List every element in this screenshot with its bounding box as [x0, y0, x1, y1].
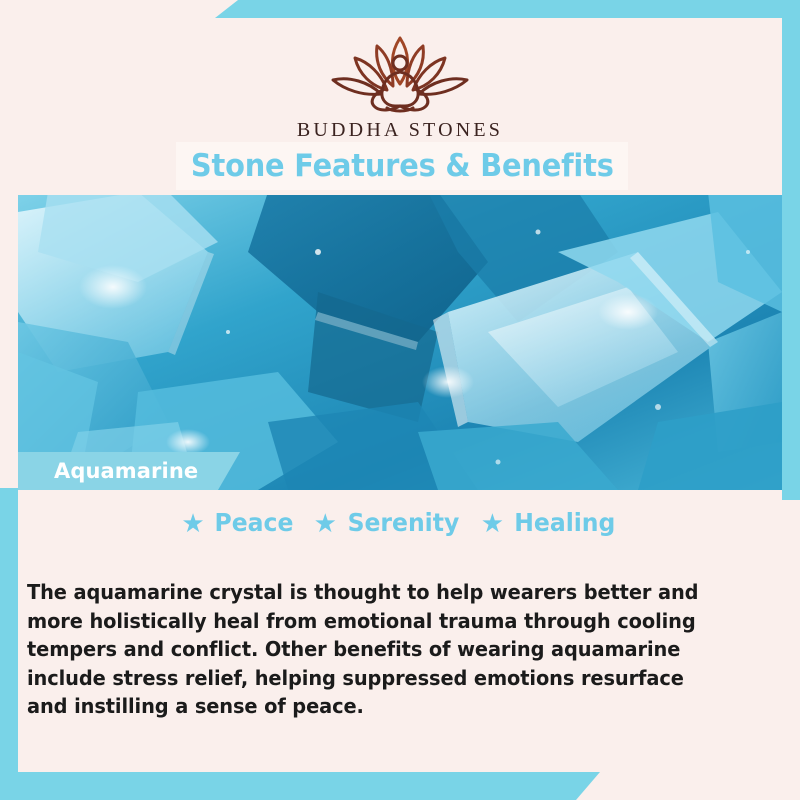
keyword-label: Peace	[214, 508, 293, 537]
keyword-item: ★ Serenity	[314, 508, 463, 537]
keyword-list: ★ Peace ★ Serenity ★ Healing	[18, 508, 782, 537]
section-title-banner: Stone Features & Benefits	[176, 142, 628, 190]
brand-name: BUDDHA STONES	[297, 119, 503, 142]
stone-name-tag: Aquamarine	[18, 452, 240, 490]
stone-name-label: Aquamarine	[54, 459, 198, 483]
star-icon: ★	[481, 510, 504, 536]
corner-accent-right-vertical	[782, 0, 800, 500]
lotus-meditation-figure-icon	[325, 28, 475, 116]
star-icon: ★	[314, 510, 337, 536]
keyword-item: ★ Healing	[481, 508, 619, 537]
corner-accent-top-right	[215, 0, 800, 18]
stone-description: The aquamarine crystal is thought to hel…	[27, 578, 720, 721]
corner-accent-left-vertical	[0, 488, 18, 800]
aquamarine-crystal-photo	[18, 192, 782, 490]
keyword-label: Serenity	[347, 508, 459, 537]
star-icon: ★	[181, 510, 204, 536]
page-title: Stone Features & Benefits	[191, 148, 614, 184]
keyword-item: ★ Peace	[181, 508, 295, 537]
keyword-label: Healing	[514, 508, 615, 537]
brand-logo: BUDDHA STONES	[297, 28, 503, 142]
infographic-page: BUDDHA STONES Stone Features & Benefits …	[0, 0, 800, 800]
corner-accent-bottom-left	[0, 772, 600, 800]
